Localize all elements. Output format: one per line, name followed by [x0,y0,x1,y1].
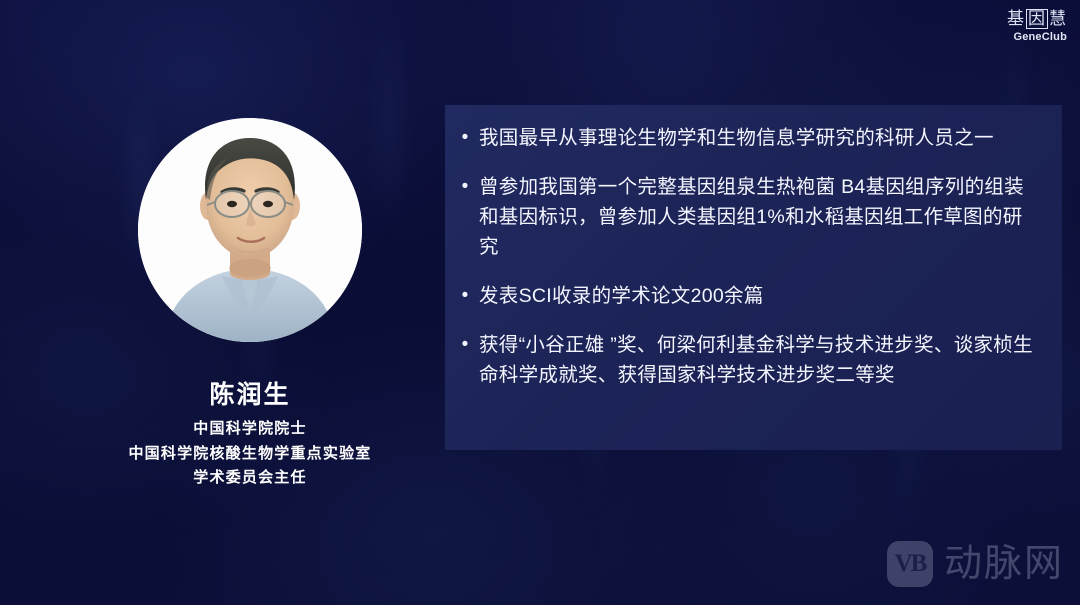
bullet-icon: • [451,123,479,153]
brand-english-name: GeneClub [1007,32,1067,43]
list-item: • 获得“小谷正雄 ”奖、何梁何利基金科学与技术进步奖、谈家桢生命科学成就奖、获… [451,330,1042,390]
list-item: • 我国最早从事理论生物学和生物信息学研究的科研人员之一 [451,123,1042,153]
list-item: • 发表SCI收录的学术论文200余篇 [451,281,1042,311]
brand-char-yin-boxed: 因 [1026,9,1048,29]
watermark-label: 动脉网 [944,545,1064,583]
portrait-circle-mask [138,118,362,342]
bullet-icon: • [451,281,479,311]
biography-text: 发表SCI收录的学术论文200余篇 [479,281,1042,311]
speaker-title-line-1: 中国科学院院士 [0,417,500,441]
brand-char-hui: 慧 [1049,10,1067,27]
biography-text: 我国最早从事理论生物学和生物信息学研究的科研人员之一 [479,123,1042,153]
vb-logo-icon: VB [887,541,933,587]
biography-panel: • 我国最早从事理论生物学和生物信息学研究的科研人员之一 • 曾参加我国第一个完… [445,105,1062,450]
bullet-icon: • [451,172,479,202]
speaker-title-line-3: 学术委员会主任 [0,466,500,490]
speaker-name: 陈润生 [0,380,500,411]
biography-list: • 我国最早从事理论生物学和生物信息学研究的科研人员之一 • 曾参加我国第一个完… [451,123,1042,390]
portrait-illustration [138,118,362,342]
bullet-icon: • [451,330,479,360]
geneclub-logo: 基 因 慧 GeneClub [1007,9,1067,43]
presentation-slide: 基 因 慧 GeneClub [0,0,1080,605]
speaker-title-line-2: 中国科学院核酸生物学重点实验室 [0,442,500,466]
brand-char-ji: 基 [1007,10,1025,27]
brand-chinese-name: 基 因 慧 [1007,9,1067,29]
vbdata-watermark: VB 动脉网 [887,541,1064,587]
list-item: • 曾参加我国第一个完整基因组泉生热袍菌 B4基因组序列的组装和基因标识，曾参加… [451,172,1042,262]
biography-text: 曾参加我国第一个完整基因组泉生热袍菌 B4基因组序列的组装和基因标识，曾参加人类… [479,172,1042,262]
biography-text: 获得“小谷正雄 ”奖、何梁何利基金科学与技术进步奖、谈家桢生命科学成就奖、获得国… [479,330,1042,390]
speaker-portrait [138,118,362,342]
speaker-info: 陈润生 中国科学院院士 中国科学院核酸生物学重点实验室 学术委员会主任 [0,380,500,490]
